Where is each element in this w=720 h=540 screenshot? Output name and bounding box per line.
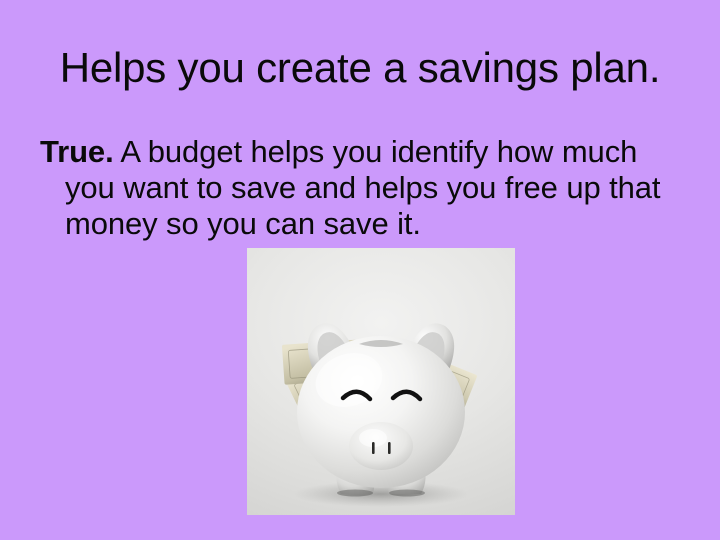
snout — [349, 422, 413, 470]
piggy-bank-photo — [247, 248, 515, 515]
body-explanation: A budget helps you identify how much you… — [65, 134, 660, 241]
body-text-block: True. A budget helps you identify how mu… — [40, 134, 688, 242]
nostril-left — [372, 442, 375, 454]
slide: Helps you create a savings plan. True. A… — [0, 0, 720, 540]
body-lead-answer: True. — [40, 134, 114, 169]
body-paragraph: True. A budget helps you identify how mu… — [40, 134, 688, 242]
nostril-right — [388, 442, 391, 454]
page-title: Helps you create a savings plan. — [40, 44, 680, 92]
piggy-bank-illustration — [247, 248, 515, 515]
